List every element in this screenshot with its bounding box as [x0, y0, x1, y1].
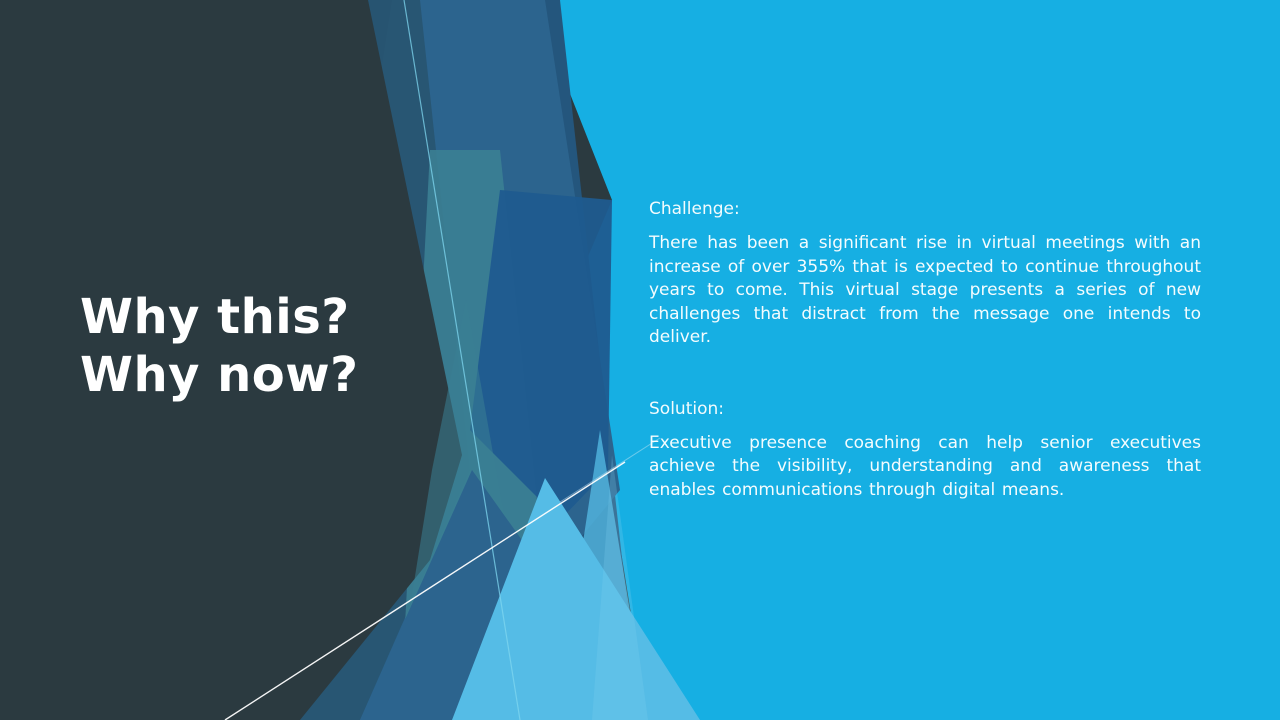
slide-title: Why this? Why now? — [80, 288, 540, 404]
slide-body-content: Challenge: There has been a significant … — [649, 198, 1201, 502]
section-spacer — [649, 350, 1201, 398]
solution-heading: Solution: — [649, 398, 1201, 420]
slide-canvas: Why this? Why now? Challenge: There has … — [0, 0, 1280, 720]
challenge-heading: Challenge: — [649, 198, 1201, 220]
title-line-2: Why now? — [80, 346, 540, 404]
title-line-1: Why this? — [80, 288, 540, 346]
challenge-paragraph: There has been a significant rise in vir… — [649, 232, 1201, 350]
solution-paragraph: Executive presence coaching can help sen… — [649, 432, 1201, 503]
